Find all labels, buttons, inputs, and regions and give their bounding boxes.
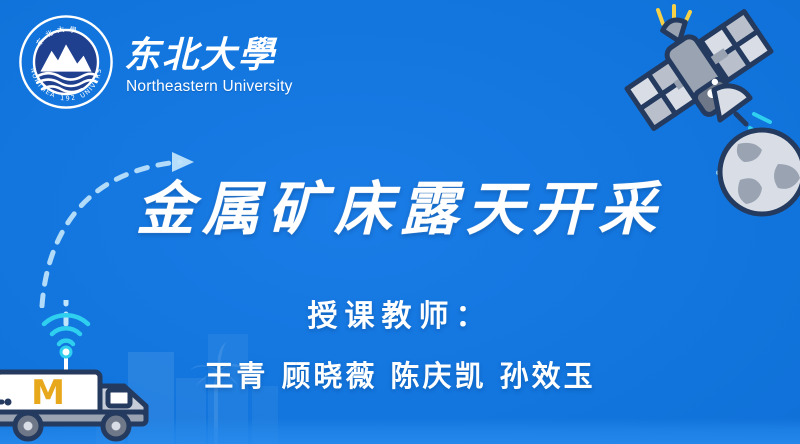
presentation-cover-slide: M <box>0 0 800 444</box>
wordmark-cn-text: 东北大學 <box>124 34 278 76</box>
instructor-label: 授课教师： <box>0 300 800 333</box>
university-logo-block: 东 北 大 學 NORTHEASTERN UNIVERSITY 1923 东北大… <box>18 14 293 110</box>
university-wordmark: 东北大學 Northeastern University <box>124 29 293 95</box>
slide-title: 金属矿床露天开采 <box>0 178 800 242</box>
wordmark-chinese-calligraphy: 东北大學 <box>124 29 292 77</box>
northeastern-university-seal-icon: 东 北 大 學 NORTHEASTERN UNIVERSITY 1923 <box>18 14 114 110</box>
wordmark-english-text: Northeastern University <box>124 79 293 95</box>
instructor-names: 王青 顾晓薇 陈庆凯 孙效玉 <box>0 361 800 393</box>
bottom-light-band <box>0 418 800 444</box>
